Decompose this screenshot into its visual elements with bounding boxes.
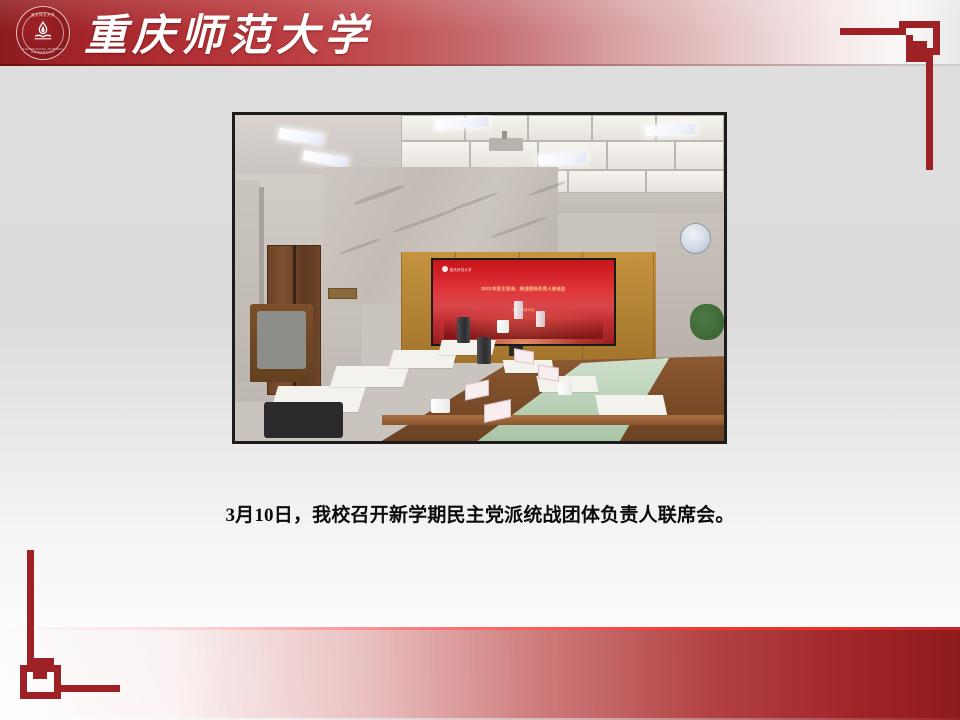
flame-book-icon — [30, 18, 56, 44]
cup — [497, 320, 510, 333]
document — [595, 395, 668, 415]
water-bottle — [514, 301, 523, 319]
thermos — [457, 317, 470, 343]
screen-date: 2021年3月10日 — [444, 307, 604, 312]
cup — [558, 382, 573, 395]
screen-logo: 重庆师范大学 — [442, 266, 472, 272]
water-bottle — [536, 311, 545, 327]
door-sign — [328, 288, 357, 299]
presentation-slide: 重庆师范大学 CHONGQING NORMAL UNIVERSITY 重庆师范大… — [0, 0, 960, 720]
university-emblem-icon: 重庆师范大学 CHONGQING NORMAL UNIVERSITY — [16, 6, 70, 60]
thermos — [477, 337, 491, 365]
screen-title: 2021年民主党派、统战团体负责人座谈会 — [444, 286, 604, 292]
photo-caption: 3月10日，我校召开新学期民主党派统战团体负责人联席会。 — [0, 500, 960, 527]
wall-plate-decor — [680, 223, 711, 254]
chair-back — [264, 402, 342, 438]
photo-content: 重庆师范大学 2021年民主党派、统战团体负责人座谈会 2021年3月10日 — [235, 115, 724, 441]
chinese-corner-ornament-top-right — [840, 10, 950, 170]
header-banner: 重庆师范大学 CHONGQING NORMAL UNIVERSITY 重庆师范大… — [0, 0, 960, 64]
document — [329, 366, 409, 387]
potted-plant — [690, 304, 724, 340]
projector-icon — [489, 138, 523, 151]
meeting-photo: 重庆师范大学 2021年民主党派、统战团体负责人座谈会 2021年3月10日 — [232, 112, 727, 444]
cup — [431, 399, 451, 414]
footer-band — [0, 630, 960, 720]
header-divider — [0, 64, 960, 66]
emblem-top-text: 重庆师范大学 — [17, 14, 69, 17]
chinese-corner-ornament-bottom-left — [10, 550, 120, 710]
emblem-bottom-text: CHONGQING NORMAL UNIVERSITY — [17, 48, 69, 54]
page-title: 重庆师范大学 — [84, 2, 372, 62]
